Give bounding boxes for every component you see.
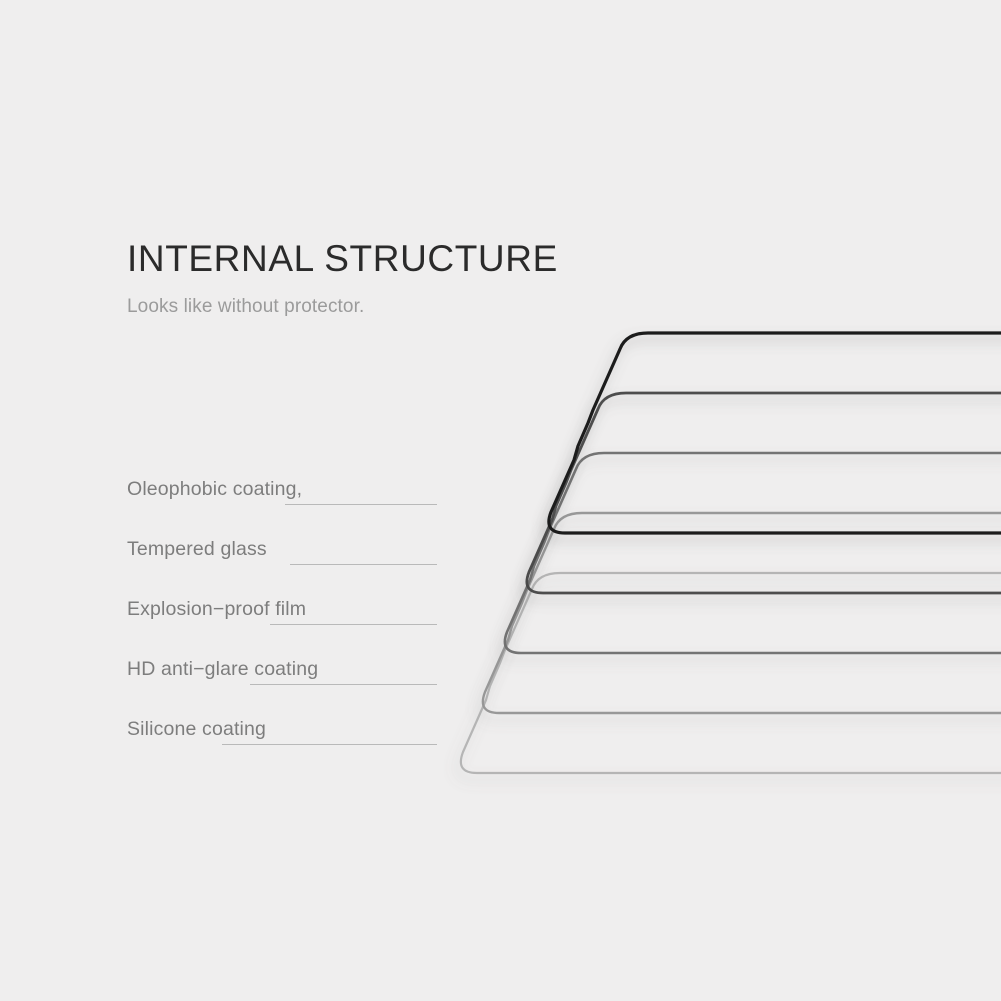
- infographic-canvas: INTERNAL STRUCTURE Looks like without pr…: [0, 0, 1001, 1001]
- leader-line: [290, 564, 437, 565]
- layer-label-text: Oleophobic coating,: [127, 478, 302, 501]
- layer-label-text: HD anti−glare coating: [127, 658, 318, 681]
- sheet-tempered-glass: [527, 393, 1001, 593]
- leader-line: [250, 684, 437, 685]
- page-subtitle: Looks like without protector.: [127, 296, 687, 318]
- sheet-silicone-coating: [461, 573, 1001, 773]
- layer-label-text: Explosion−proof film: [127, 598, 306, 621]
- heading-block: INTERNAL STRUCTURE Looks like without pr…: [127, 240, 687, 318]
- layer-label-text: Tempered glass: [127, 538, 267, 561]
- page-title: INTERNAL STRUCTURE: [127, 240, 687, 279]
- sheet-hd-anti-glare-coating: [483, 513, 1001, 713]
- sheet-explosion-proof-film: [505, 453, 1001, 653]
- layer-label-text: Silicone coating: [127, 718, 266, 741]
- leader-line: [222, 744, 437, 745]
- leader-line: [285, 504, 437, 505]
- leader-line: [270, 624, 437, 625]
- sheet-oleophobic-coating: [549, 333, 1001, 533]
